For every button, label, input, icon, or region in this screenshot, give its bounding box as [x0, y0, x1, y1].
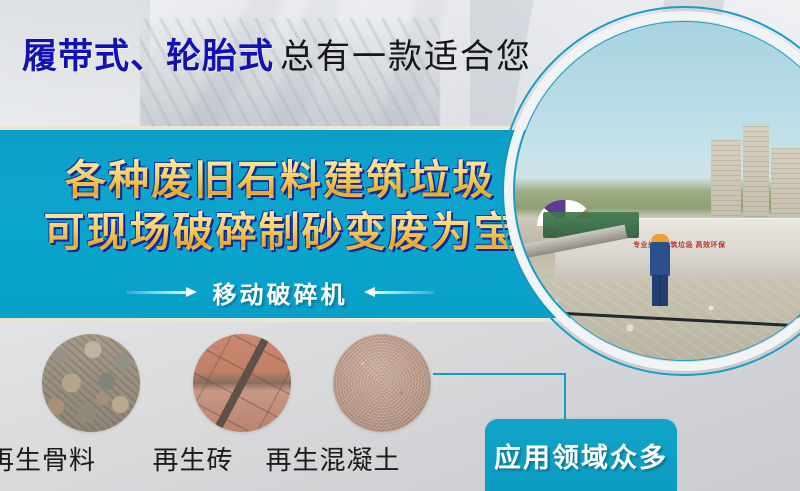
headline-highlight: 履带式、轮胎式: [22, 37, 274, 76]
banner-line-1: 各种废旧石料建筑垃圾: [0, 146, 560, 206]
application-badge-label: 应用领域众多: [494, 436, 668, 475]
arrow-right-icon: [121, 287, 197, 297]
headline-tagline: 总有一款适合您: [280, 38, 532, 76]
hero-photo-circle: 专业处理建筑垃圾 高效环保: [499, 6, 800, 376]
product-image-2: [333, 334, 431, 432]
page-headline: 履带式、轮胎式总有一款适合您: [22, 34, 562, 80]
product-label-0: 再生骨料: [0, 440, 96, 477]
banner-line-2: 可现场破碎制砂变废为宝: [0, 198, 560, 258]
arrow-left-icon: [364, 287, 440, 297]
application-badge: 应用领域众多: [485, 419, 677, 491]
banner-subtitle-row: 移动破碎机: [0, 275, 560, 309]
product-label-2: 再生混凝土: [265, 440, 400, 477]
poster-stage: 履带式、轮胎式总有一款适合您 各种废旧石料建筑垃圾 可现场破碎制砂变废为宝 移动…: [0, 0, 800, 491]
connector-line-vertical: [564, 373, 566, 421]
product-label-1: 再生砖: [152, 440, 233, 477]
banner-subtitle: 移动破碎机: [213, 275, 348, 310]
product-image-0: [42, 334, 140, 432]
connector-line-horizontal: [433, 373, 566, 375]
product-image-1: [193, 334, 291, 432]
